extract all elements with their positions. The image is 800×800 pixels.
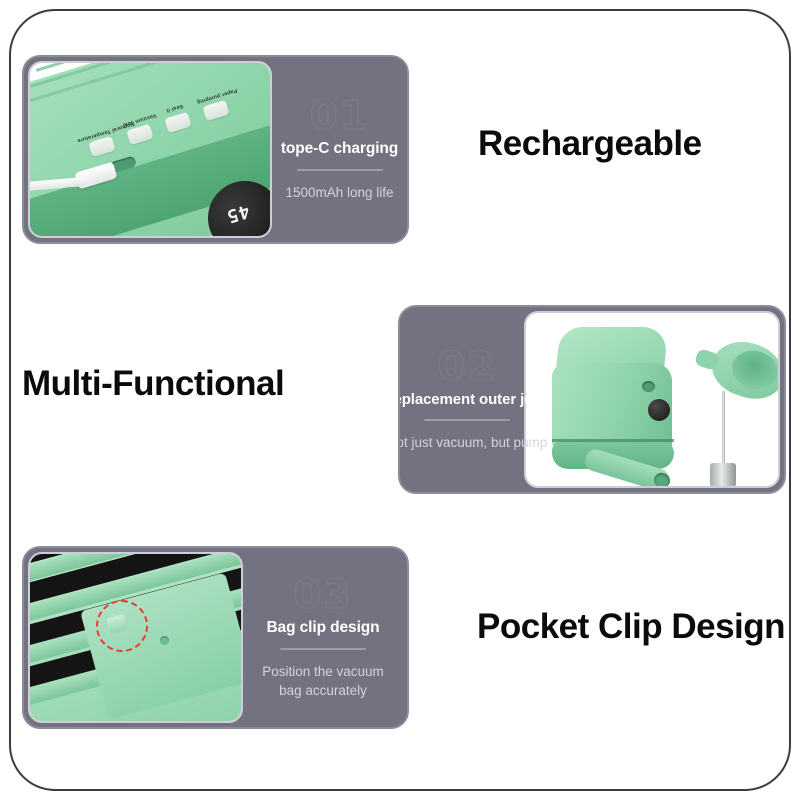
card-02-divider bbox=[424, 419, 510, 421]
card-02-subtitle: Not just vacuum, but pump bbox=[398, 434, 547, 452]
card-02-text-block: 02 Replacement outer joint Not just vacu… bbox=[400, 307, 534, 492]
card-02-number: 02 bbox=[437, 347, 497, 387]
pump-air-hole bbox=[642, 381, 655, 392]
card-03-subtitle-line-2: bag accurately bbox=[262, 682, 384, 700]
feature-card-01: Nomoral Temperature Vacuum seal Seal it … bbox=[22, 55, 409, 244]
card-03-subtitle-line-1: Position the vacuum bbox=[262, 663, 384, 681]
headline-pocketclip: Pocket Clip Design bbox=[477, 607, 785, 647]
card-01-text-block: 01 tope-C charging 1500mAh long life bbox=[272, 57, 407, 242]
alignment-dot bbox=[160, 636, 169, 645]
air-pump-illustration bbox=[526, 313, 778, 486]
red-dashed-highlight-circle bbox=[96, 600, 148, 652]
card-03-title: Bag clip design bbox=[266, 619, 379, 637]
headline-rechargeable: Rechargeable bbox=[478, 124, 702, 164]
card-01-number: 01 bbox=[310, 96, 370, 136]
infographic-page: Nomoral Temperature Vacuum seal Seal it … bbox=[0, 0, 800, 800]
headline-multifunctional: Multi-Functional bbox=[22, 364, 284, 404]
card-01-divider bbox=[297, 169, 383, 171]
card-03-number: 03 bbox=[293, 575, 353, 615]
card-01-title: tope-C charging bbox=[281, 140, 398, 158]
feature-card-02: 02 Replacement outer joint Not just vacu… bbox=[398, 305, 786, 494]
card-03-subtitle: Position the vacuum bag accurately bbox=[262, 663, 384, 699]
card-01-product-image: Nomoral Temperature Vacuum seal Seal it … bbox=[28, 61, 272, 238]
needle-pin-base bbox=[710, 463, 736, 487]
vacuum-sealer-usbc-illustration: Nomoral Temperature Vacuum seal Seal it … bbox=[30, 63, 270, 236]
card-03-text-block: 03 Bag clip design Position the vacuum b… bbox=[239, 548, 407, 727]
bag-clip-closeup-illustration bbox=[30, 554, 241, 721]
card-02-product-image bbox=[524, 311, 780, 488]
card-03-product-image bbox=[28, 552, 243, 723]
pump-seam-line bbox=[552, 439, 674, 442]
card-01-subtitle: 1500mAh long life bbox=[285, 184, 393, 202]
card-02-title: Replacement outer joint bbox=[398, 391, 551, 408]
pump-knob[interactable] bbox=[648, 399, 670, 421]
card-03-divider bbox=[280, 648, 366, 650]
feature-card-03: 03 Bag clip design Position the vacuum b… bbox=[22, 546, 409, 729]
needle-pin-shaft bbox=[722, 391, 725, 469]
